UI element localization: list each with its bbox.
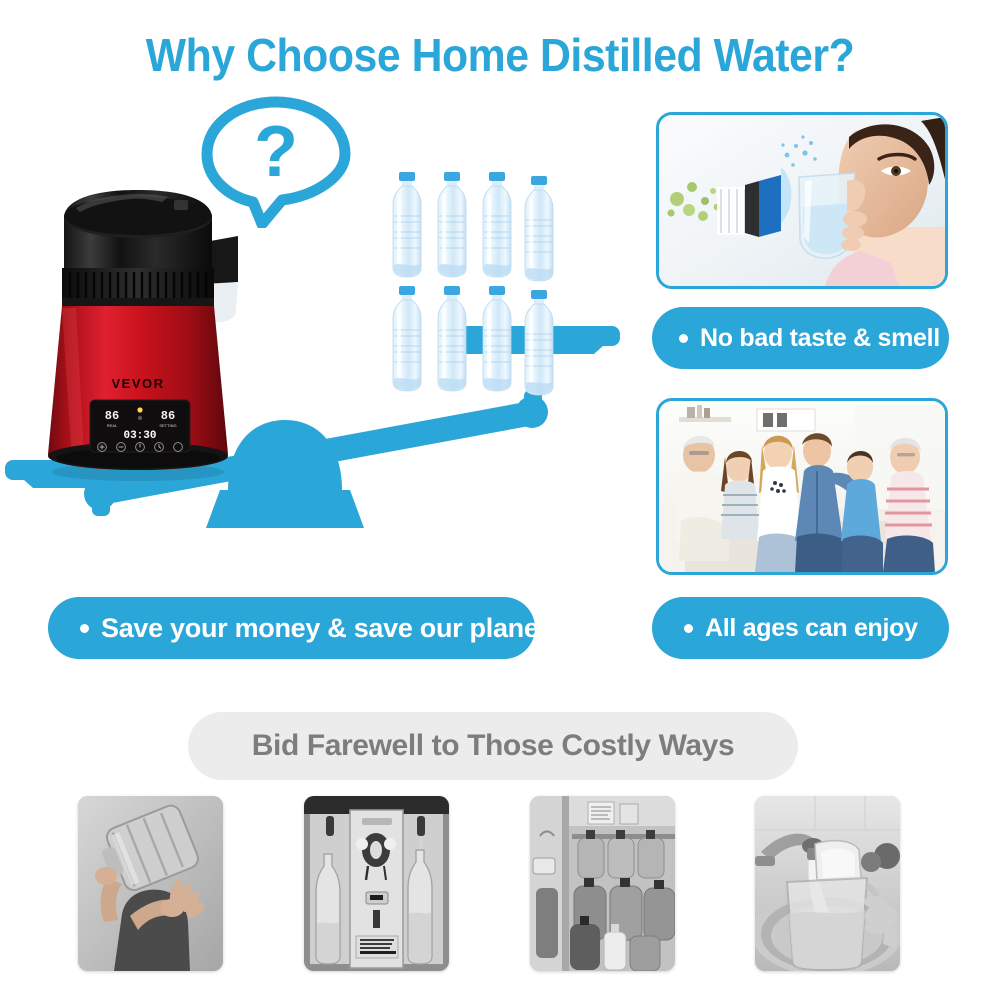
brand-wordmark: VEVOR (111, 376, 164, 391)
bullet-dot-icon (80, 624, 89, 633)
display-real-value: 86 (105, 409, 119, 423)
display-real-label: REAL (107, 423, 118, 428)
photo-family-on-sofa (656, 398, 948, 575)
display-timer: 03:30 (123, 430, 156, 442)
control-panel: 86 REAL 86 SETTING 03:30 (90, 400, 190, 452)
bottled-water-group (375, 168, 560, 403)
benefit-label: No bad taste & smell (700, 324, 940, 353)
vent-band (62, 268, 214, 308)
distiller-lid (64, 190, 212, 270)
banner-label: Bid Farewell to Those Costly Ways (252, 729, 734, 763)
photo-filter-pitcher-at-tap (755, 796, 900, 971)
page-title: Why Choose Home Distilled Water? (35, 28, 965, 82)
photo-stacked-water-jugs (530, 796, 675, 971)
infographic-page: Why Choose Home Distilled Water? ? (0, 0, 1000, 1000)
water-distiller-product: VEVOR 86 REAL 86 SETTING 03:30 (42, 172, 272, 492)
display-setting-value: 86 (161, 409, 175, 423)
section-banner: Bid Farewell to Those Costly Ways (188, 712, 798, 780)
benefit-pill-no-bad-taste: No bad taste & smell (652, 307, 949, 369)
benefit-pill-all-ages: All ages can enjoy (652, 597, 949, 659)
photo-water-vending-machine (304, 796, 449, 971)
photo-woman-drinking-water (656, 112, 948, 289)
bottle-row-top (393, 172, 553, 281)
benefit-label: All ages can enjoy (705, 614, 918, 643)
bullet-dot-icon (679, 334, 688, 343)
photo-man-carrying-jug (78, 796, 223, 971)
bullet-dot-icon (684, 624, 693, 633)
benefit-label: Save your money & save our planet (101, 613, 547, 644)
benefit-pill-save-money: Save your money & save our planet (48, 597, 535, 659)
display-setting-label: SETTING (159, 423, 176, 428)
bottle-row-bottom (393, 286, 553, 395)
